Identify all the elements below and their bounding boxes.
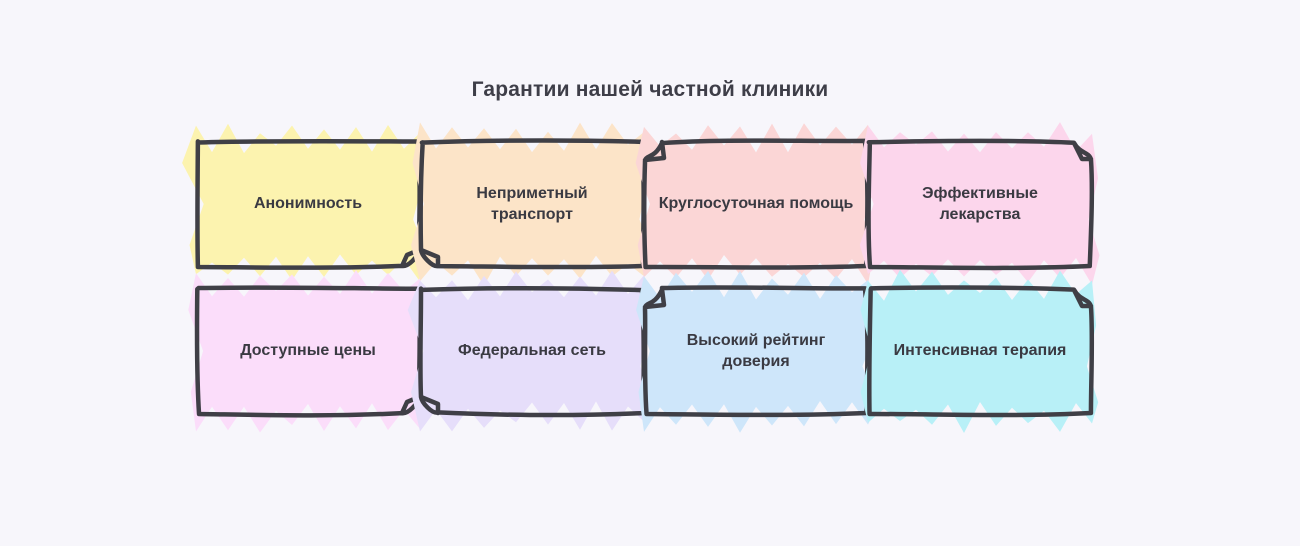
card-label: Доступные цены xyxy=(196,287,420,415)
card-label: Эффективные лекарства xyxy=(868,140,1092,268)
guarantee-card: Эффективные лекарства xyxy=(868,140,1092,268)
card-label: Анонимность xyxy=(196,140,420,268)
infographic-root: Гарантии нашей частной клиники Анонимнос… xyxy=(0,0,1300,546)
guarantee-card: Доступные цены xyxy=(196,287,420,415)
card-label: Неприметный транспорт xyxy=(420,140,644,268)
card-label: Высокий рейтинг доверия xyxy=(644,287,868,415)
card-label: Круглосуточная помощь xyxy=(644,140,868,268)
guarantee-card: Интенсивная терапия xyxy=(868,287,1092,415)
guarantee-cards-grid: АнонимностьНеприметный транспортКруглосу… xyxy=(196,140,1116,430)
card-label: Интенсивная терапия xyxy=(868,287,1092,415)
guarantee-card: Неприметный транспорт xyxy=(420,140,644,268)
guarantee-card: Федеральная сеть xyxy=(420,287,644,415)
page-title: Гарантии нашей частной клиники xyxy=(0,78,1300,102)
guarantee-card: Анонимность xyxy=(196,140,420,268)
guarantee-card: Высокий рейтинг доверия xyxy=(644,287,868,415)
card-label: Федеральная сеть xyxy=(420,287,644,415)
guarantee-card: Круглосуточная помощь xyxy=(644,140,868,268)
